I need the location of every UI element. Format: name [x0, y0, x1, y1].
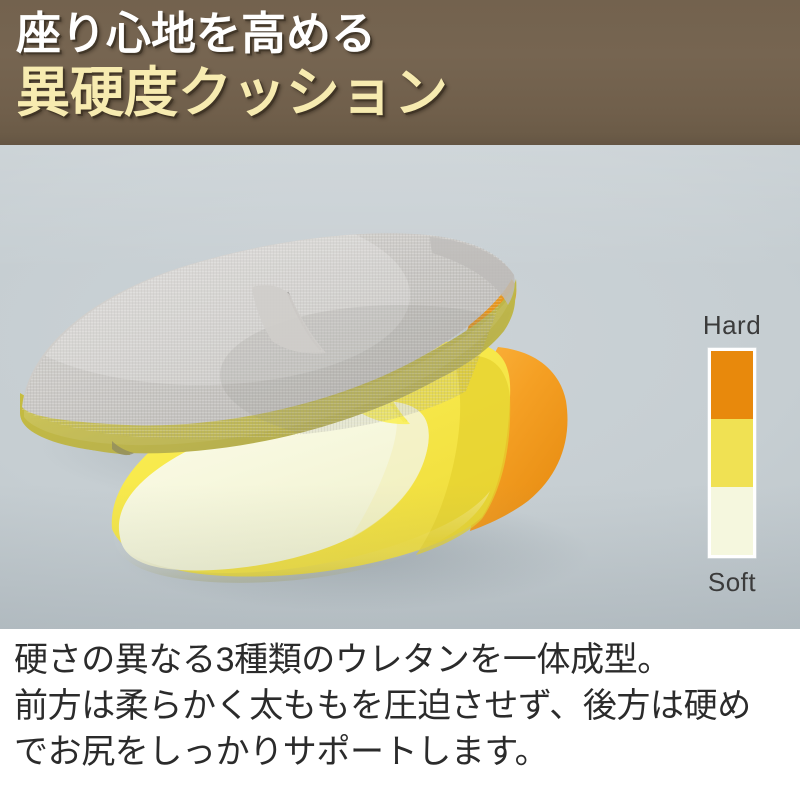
legend-segment-hard	[711, 351, 753, 419]
legend-color-bar	[708, 348, 756, 558]
description-line-3: でお尻をしっかりサポートします。	[14, 729, 800, 775]
legend-segment-soft	[711, 487, 753, 555]
hardness-legend: Hard Soft	[680, 310, 784, 610]
legend-label-hard: Hard	[680, 310, 784, 340]
description-line-1: 硬さの異なる3種類のウレタンを一体成型。	[14, 637, 800, 683]
legend-segment-medium	[711, 419, 753, 487]
legend-label-soft: Soft	[680, 567, 784, 597]
product-feature-banner: 座り心地を高める 異硬度クッション	[0, 0, 800, 800]
header-title-line-2: 異硬度クッション	[16, 62, 448, 124]
description-line-2: 前方は柔らかく太ももを圧迫させず、後方は硬め	[14, 683, 800, 729]
cushion-exploded-illustration	[0, 145, 700, 629]
product-image-stage: Hard Soft	[0, 145, 800, 629]
header-title-line-1: 座り心地を高める	[16, 8, 376, 60]
header-band: 座り心地を高める 異硬度クッション	[0, 0, 800, 145]
description-block: 硬さの異なる3種類のウレタンを一体成型。 前方は柔らかく太ももを圧迫させず、後方…	[0, 629, 800, 800]
